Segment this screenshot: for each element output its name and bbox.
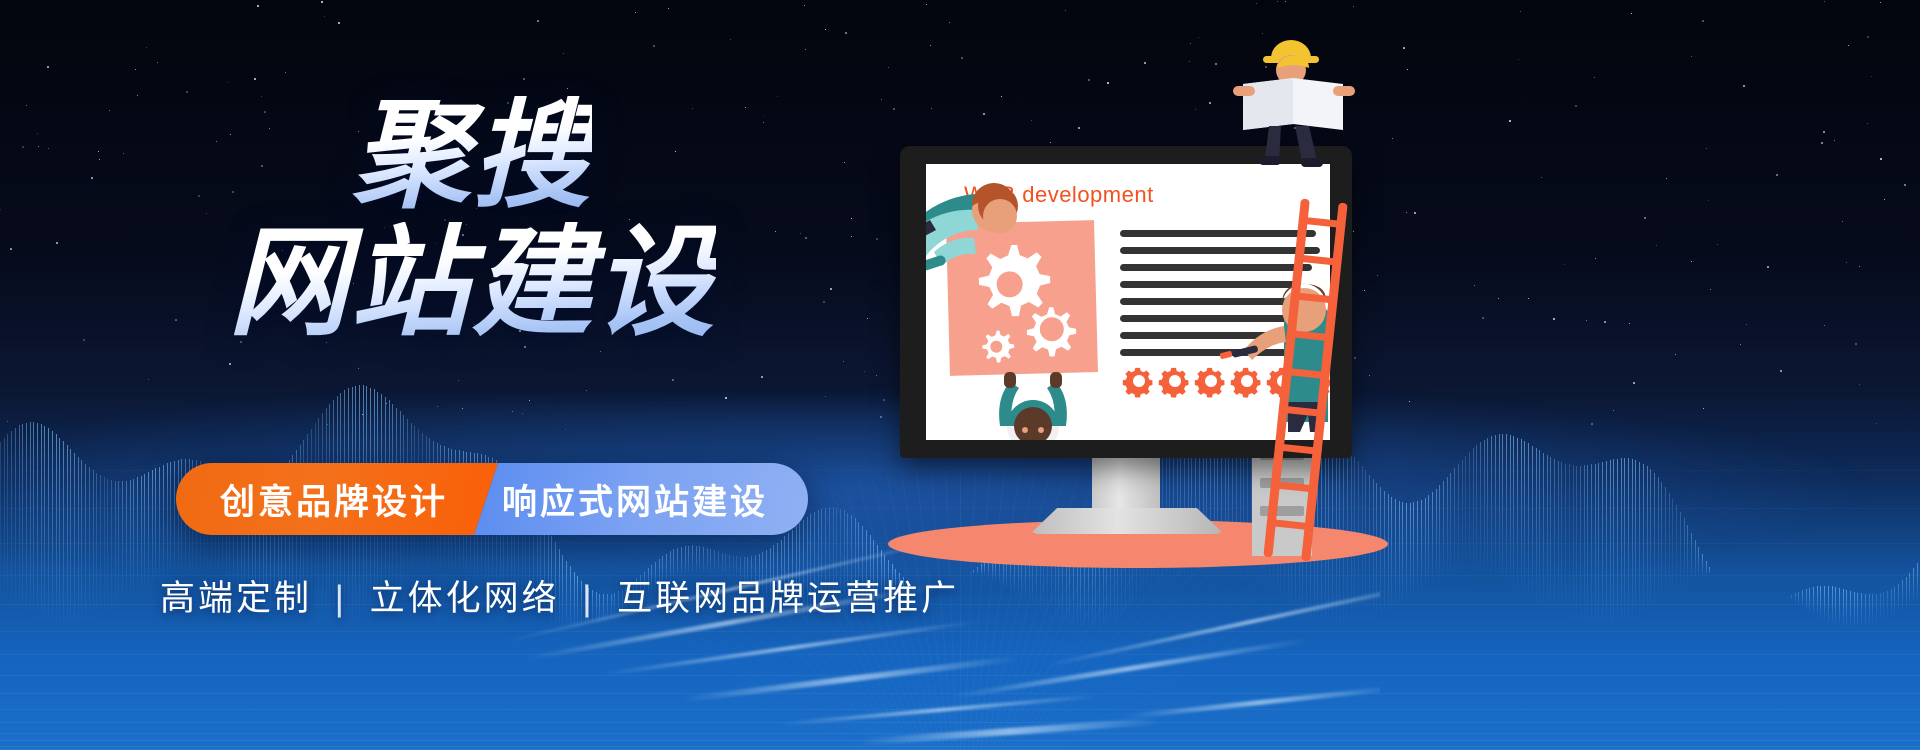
- person-designer-left: [926, 182, 1044, 302]
- pill-creative-brand-design[interactable]: 创意品牌设计: [176, 463, 498, 535]
- service-pill-group: 创意品牌设计 响应式网站建设: [176, 463, 808, 535]
- monitor-base: [1030, 508, 1224, 534]
- headline: 网站建设: [228, 222, 716, 344]
- tagline-part-1: 高端定制: [160, 579, 312, 618]
- brand-title: 聚搜: [352, 96, 592, 216]
- tagline: 高端定制 | 立体化网络 | 互联网品牌运营推广: [160, 570, 959, 621]
- person-worker-with-blueprint: [1225, 28, 1355, 168]
- web-development-illustration: WEB development: [880, 20, 1440, 740]
- pill-responsive-website[interactable]: 响应式网站建设: [474, 463, 808, 535]
- monitor-neck: [1092, 458, 1160, 516]
- tagline-separator-2: |: [582, 579, 594, 618]
- worker-blueprint-svg: [1225, 28, 1375, 178]
- hero-banner: 聚搜 网站建设 创意品牌设计 响应式网站建设 高端定制 | 立体化网络 | 互联…: [0, 0, 1920, 750]
- hero-copy: 聚搜 网站建设 创意品牌设计 响应式网站建设 高端定制 | 立体化网络 | 互联…: [0, 0, 900, 750]
- person-worker-bottom: [978, 360, 1088, 440]
- tagline-part-2: 立体化网络: [370, 579, 560, 618]
- tagline-separator-1: |: [335, 579, 347, 618]
- monitor-screen: WEB development: [926, 164, 1330, 440]
